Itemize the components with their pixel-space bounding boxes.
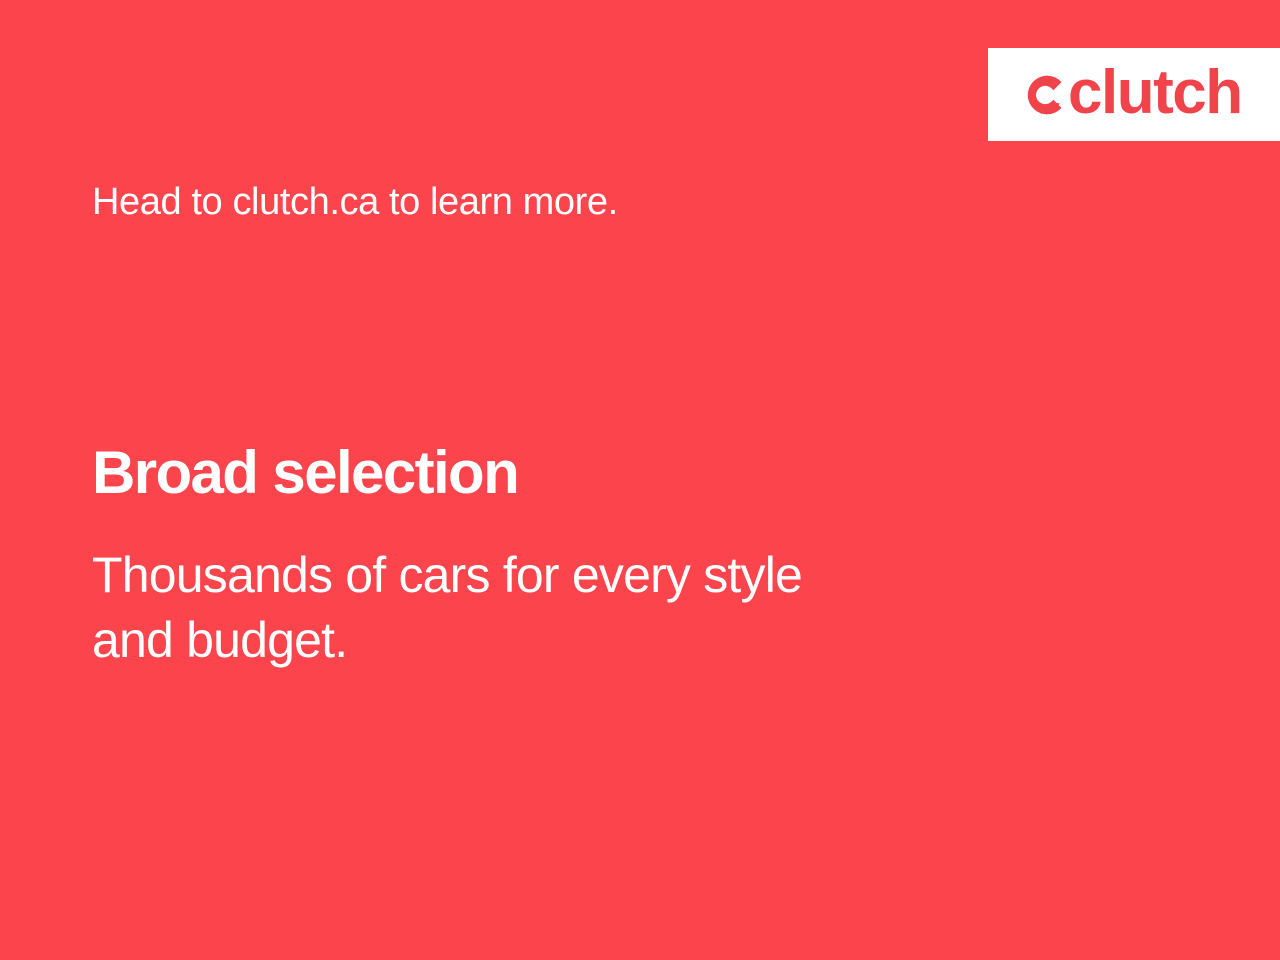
clutch-wordmark: clutch: [1068, 62, 1242, 124]
brand-logo-plate: clutch: [988, 48, 1280, 141]
slide-subcopy: Thousands of cars for every style and bu…: [92, 543, 802, 673]
slide-headline: Broad selection: [92, 440, 518, 506]
clutch-c-mark-icon: [1021, 72, 1067, 118]
cta-eyebrow-text: Head to clutch.ca to learn more.: [92, 180, 618, 226]
subcopy-line-1: Thousands of cars for every style: [92, 543, 802, 608]
promo-slide: clutch Head to clutch.ca to learn more. …: [0, 0, 1280, 960]
clutch-logo[interactable]: clutch: [1021, 66, 1242, 124]
subcopy-line-2: and budget.: [92, 608, 802, 673]
